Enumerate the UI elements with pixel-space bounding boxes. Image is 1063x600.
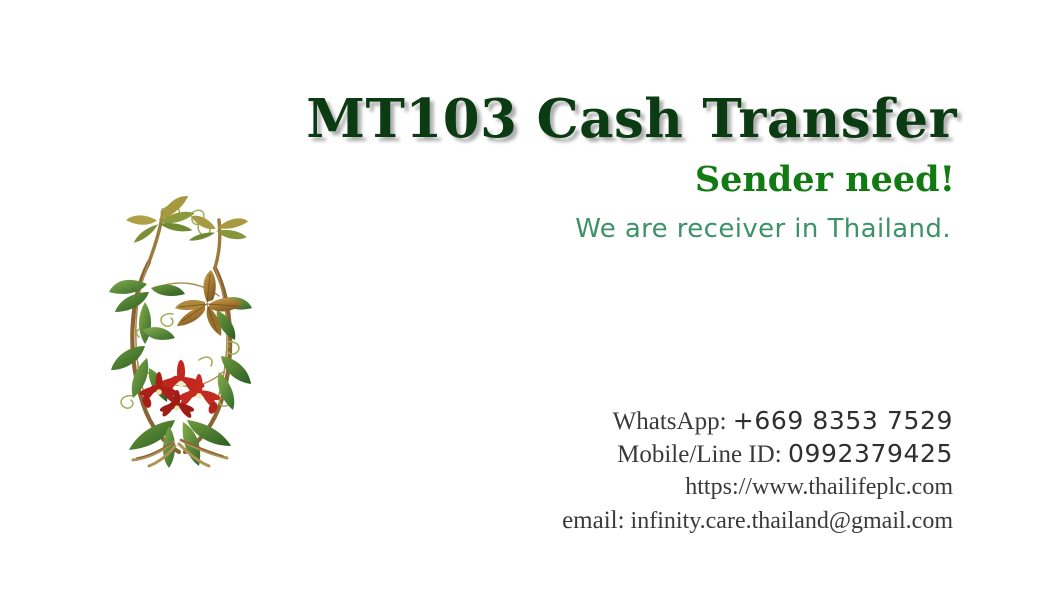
page-title: MT103 Cash Transfer — [275, 92, 957, 147]
mobile-number[interactable]: 0992379425 — [788, 439, 953, 468]
tagline: We are receiver in Thailand. — [275, 214, 951, 245]
mobile-line: Mobile/Line ID: 0992379425 — [400, 438, 953, 471]
heading-block: MT103 Cash Transfer Sender need! We are … — [275, 92, 957, 245]
email-line: email: infinity.care.thailand@gmail.com — [400, 504, 953, 538]
contact-block: WhatsApp: +669 8353 7529 Mobile/Line ID:… — [400, 405, 953, 538]
bottom-foliage — [129, 420, 231, 468]
subtitle: Sender need! — [275, 161, 955, 200]
email-address[interactable]: infinity.care.thailand@gmail.com — [631, 508, 953, 534]
whatsapp-number[interactable]: +669 8353 7529 — [733, 406, 953, 435]
whatsapp-label: WhatsApp: — [613, 408, 727, 435]
website-url[interactable]: https://www.thailifeplc.com — [400, 471, 953, 504]
floral-vine-wreath-illustration — [103, 196, 258, 468]
email-label: email: — [562, 507, 624, 534]
mobile-label: Mobile/Line ID: — [617, 441, 782, 468]
business-card-canvas: MT103 Cash Transfer Sender need! We are … — [0, 0, 1063, 600]
whatsapp-line: WhatsApp: +669 8353 7529 — [400, 405, 953, 438]
red-flower-cluster — [139, 360, 222, 420]
